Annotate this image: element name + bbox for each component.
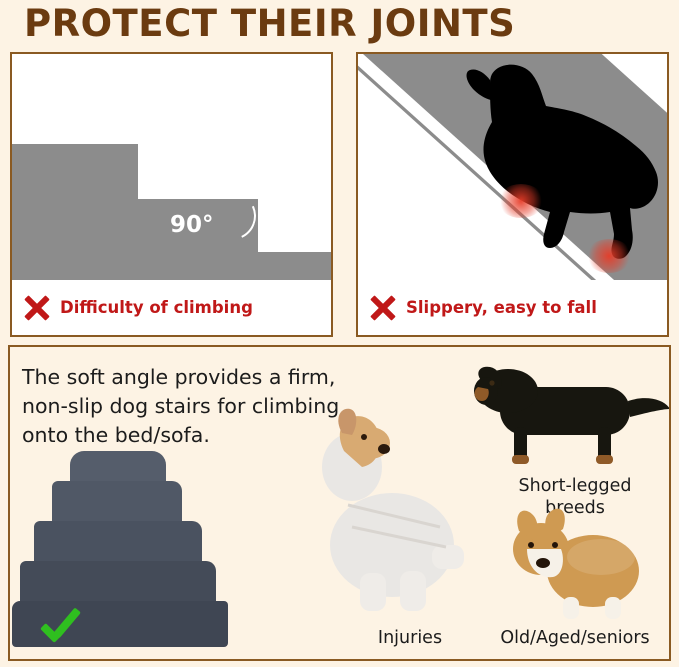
page-title: PROTECT THEIR JOINTS <box>24 2 664 46</box>
product-benefit-panel: The soft angle provides a firm, non-slip… <box>8 345 671 661</box>
right-caption-row: Slippery, easy to fall <box>358 280 667 335</box>
dachshund-photo <box>470 357 671 475</box>
left-caption-text: Difficulty of climbing <box>60 298 253 317</box>
right-caption-text: Slippery, easy to fall <box>406 298 597 317</box>
slippery-panel: Slippery, easy to fall <box>356 52 669 337</box>
difficulty-of-climbing-panel: 90° Difficulty of climbing <box>10 52 333 337</box>
infographic-root: PROTECT THEIR JOINTS 90° Difficulty of c… <box>0 0 679 667</box>
label-injuries: Injuries <box>340 627 480 649</box>
left-caption-row: Difficulty of climbing <box>12 280 331 335</box>
x-mark-icon <box>24 295 50 321</box>
dog-silhouette-icon <box>446 62 666 272</box>
green-check-icon <box>38 609 82 649</box>
pain-glow-front-icon <box>498 184 544 218</box>
injured-dog-photo <box>300 395 490 625</box>
label-old-aged-seniors: Old/Aged/seniors <box>480 627 670 649</box>
pain-glow-rear-icon <box>586 239 632 273</box>
corgi-photo <box>505 497 655 625</box>
x-mark-icon <box>370 295 396 321</box>
